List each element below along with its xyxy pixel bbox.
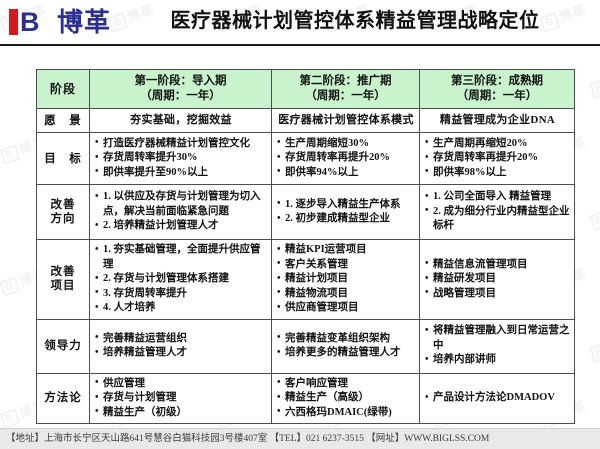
strategy-matrix: 阶段 第一阶段：导入期 （周期：一年） 第二阶段：推广期 （周期：一年） 第三阶… (36, 69, 574, 424)
vision-phase3: 精益管理成为企业DNA (420, 109, 575, 133)
list-item: 精益KPI运营项目 (277, 243, 415, 258)
list-item: 将精益管理融入到日常运营之中 (425, 324, 570, 353)
list-item: 即供率94%以上 (277, 166, 415, 181)
direction-phase3: 1. 公司全面导入 精益管理2. 成为细分行业内精益型企业标杆 (420, 185, 575, 240)
table-row: 方法论 供应管理存货与计划管理精益生产（初级） 客户响应管理精益生产（高级）六西… (37, 373, 575, 424)
goal-phase2: 生产周期缩短30%存货周转率再提升20%即供率94%以上 (272, 133, 420, 185)
list-item: 精益物流项目 (277, 287, 415, 302)
table-row: 目 标 打造医疗器械精益计划管控文化存货周转率提升30%即供率提升至90%以上 … (37, 133, 575, 185)
phase1-duration: （周期：一年） (92, 89, 269, 104)
slide-header: B 博革 医疗器械计划管控体系精益管理战略定位 (0, 0, 600, 46)
method-phase1-list: 供应管理存货与计划管理精益生产（初级） (95, 377, 267, 421)
list-item: 生产周期再缩短20% (425, 137, 570, 152)
row-label-projects: 改善 项目 (37, 240, 90, 320)
direction-phase2-list: 1. 逐步导入精益生产体系2. 初步建成精益型企业 (277, 198, 415, 227)
goal-phase2-list: 生产周期缩短30%存货周转率再提升20%即供率94%以上 (277, 137, 415, 181)
method-phase3: 产品设计方法论DMADOV (420, 373, 575, 424)
list-item: 1. 以供应及存货与计划管理为切入点，解决当前面临紧急问题 (95, 190, 267, 219)
method-phase1: 供应管理存货与计划管理精益生产（初级） (90, 373, 272, 424)
list-item: 产品设计方法论DMADOV (425, 391, 570, 406)
list-item: 即供率98%以上 (425, 166, 570, 181)
vision-phase1: 夯实基础，挖掘效益 (90, 109, 272, 133)
row-label-direction: 改善 方向 (37, 185, 90, 240)
row-label-leadership: 领导力 (37, 319, 90, 373)
column-header-stage: 阶段 (37, 70, 90, 109)
header-divider (0, 44, 600, 46)
list-item: 培养精益管理人才 (95, 346, 267, 361)
list-item: 3. 存货周转率提升 (95, 287, 267, 302)
projects-phase2-list: 精益KPI运营项目客户关系管理精益计划项目精益物流项目供应商管理项目 (277, 243, 415, 316)
table-row: 愿 景 夯实基础，挖掘效益 医疗器械计划管控体系模式 精益管理成为企业DNA (37, 109, 575, 133)
table-head: 阶段 第一阶段：导入期 （周期：一年） 第二阶段：推广期 （周期：一年） 第三阶… (37, 70, 575, 109)
list-item: 培养内部讲师 (425, 353, 570, 368)
leadership-phase1-list: 完善精益运营组织培养精益管理人才 (95, 332, 267, 361)
page-title: 医疗器械计划管控体系精益管理战略定位 (120, 8, 590, 34)
phase3-title: 第三阶段：成熟期 (422, 74, 572, 89)
list-item: 精益计划项目 (277, 272, 415, 287)
column-header-phase1: 第一阶段：导入期 （周期：一年） (90, 70, 272, 109)
list-item: 4. 人才培养 (95, 301, 267, 316)
slide-page: B博革B博革B博革B博革B博革B博革B博革B博革B博革B博革B博革B博革B博革B… (0, 0, 600, 449)
footer-bar: 【地址】上海市长宁区天山路641号慧谷白猫科技园3号楼407室 【TEL】021… (0, 428, 600, 449)
list-item: 1. 夯实基础管理，全面提升供应管理 (95, 243, 267, 272)
goal-phase3: 生产周期再缩短20%存货周转率再提升20%即供率98%以上 (420, 133, 575, 185)
projects-phase1: 1. 夯实基础管理，全面提升供应管理2. 存货与计划管理体系搭建3. 存货周转率… (90, 240, 272, 320)
projects-phase3-list: 精益信息流管理项目精益研发项目战略管理项目 (425, 258, 570, 302)
leadership-phase1: 完善精益运营组织培养精益管理人才 (90, 319, 272, 373)
list-item: 1. 逐步导入精益生产体系 (277, 198, 415, 213)
column-header-phase2: 第二阶段：推广期 （周期：一年） (272, 70, 420, 109)
list-item: 2. 初步建成精益型企业 (277, 212, 415, 227)
table-header-row: 阶段 第一阶段：导入期 （周期：一年） 第二阶段：推广期 （周期：一年） 第三阶… (37, 70, 575, 109)
leadership-phase3: 将精益管理融入到日常运营之中培养内部讲师 (420, 319, 575, 373)
leadership-phase2-list: 完善精益变革组织架构培养更多的精益管理人才 (277, 332, 415, 361)
projects-phase1-list: 1. 夯实基础管理，全面提升供应管理2. 存货与计划管理体系搭建3. 存货周转率… (95, 243, 267, 316)
list-item: 供应管理 (95, 377, 267, 392)
list-item: 完善精益运营组织 (95, 332, 267, 347)
table-row: 改善 项目 1. 夯实基础管理，全面提升供应管理2. 存货与计划管理体系搭建3.… (37, 240, 575, 320)
list-item: 2. 存货与计划管理体系搭建 (95, 272, 267, 287)
list-item: 2. 培养精益计划管理人才 (95, 219, 267, 234)
projects-phase3: 精益信息流管理项目精益研发项目战略管理项目 (420, 240, 575, 320)
phase2-duration: （周期：一年） (274, 89, 417, 104)
row-label-method: 方法论 (37, 373, 90, 424)
phase3-duration: （周期：一年） (422, 89, 572, 104)
list-item: 存货与计划管理 (95, 391, 267, 406)
goal-phase3-list: 生产周期再缩短20%存货周转率再提升20%即供率98%以上 (425, 137, 570, 181)
method-phase2-list: 客户响应管理精益生产（高级）六西格玛DMAIC(绿带) (277, 377, 415, 421)
column-header-phase3: 第三阶段：成熟期 （周期：一年） (420, 70, 575, 109)
list-item: 供应商管理项目 (277, 301, 415, 316)
brand-logo-text: 博革 (57, 7, 111, 37)
row-label-projects-line2: 项目 (38, 279, 88, 293)
table-row: 领导力 完善精益运营组织培养精益管理人才 完善精益变革组织架构培养更多的精益管理… (37, 319, 575, 373)
list-item: 即供率提升至90%以上 (95, 166, 267, 181)
method-phase2: 客户响应管理精益生产（高级）六西格玛DMAIC(绿带) (272, 373, 420, 424)
row-label-vision: 愿 景 (37, 109, 90, 133)
watermark-logo-icon: B博革 (588, 329, 600, 363)
row-label-goal: 目 标 (37, 133, 90, 185)
list-item: 存货周转率再提升20% (425, 151, 570, 166)
direction-phase1: 1. 以供应及存货与计划管理为切入点，解决当前面临紧急问题2. 培养精益计划管理… (90, 185, 272, 240)
row-label-direction-line1: 改善 (38, 198, 88, 212)
phase2-title: 第二阶段：推广期 (274, 74, 417, 89)
leadership-phase2: 完善精益变革组织架构培养更多的精益管理人才 (272, 319, 420, 373)
leadership-phase3-list: 将精益管理融入到日常运营之中培养内部讲师 (425, 324, 570, 368)
biggroup-logo-icon: B (8, 7, 52, 37)
watermark-logo-icon: B博革 (588, 65, 600, 99)
logo-b-glyph-icon: B (20, 9, 47, 35)
goal-phase1: 打造医疗器械精益计划管控文化存货周转率提升30%即供率提升至90%以上 (90, 133, 272, 185)
projects-phase2: 精益KPI运营项目客户关系管理精益计划项目精益物流项目供应商管理项目 (272, 240, 420, 320)
list-item: 六西格玛DMAIC(绿带) (277, 406, 415, 421)
direction-phase2: 1. 逐步导入精益生产体系2. 初步建成精益型企业 (272, 185, 420, 240)
method-phase3-list: 产品设计方法论DMADOV (425, 391, 570, 406)
list-item: 2. 成为细分行业内精益型企业标杆 (425, 205, 570, 234)
list-item: 1. 公司全面导入 精益管理 (425, 190, 570, 205)
table-body: 愿 景 夯实基础，挖掘效益 医疗器械计划管控体系模式 精益管理成为企业DNA 目… (37, 109, 575, 424)
brand-logo: B 博革 (8, 6, 111, 38)
goal-phase1-list: 打造医疗器械精益计划管控文化存货周转率提升30%即供率提升至90%以上 (95, 137, 267, 181)
list-item: 完善精益变革组织架构 (277, 332, 415, 347)
list-item: 精益生产（高级） (277, 391, 415, 406)
vision-phase2: 医疗器械计划管控体系模式 (272, 109, 420, 133)
list-item: 精益研发项目 (425, 272, 570, 287)
direction-phase1-list: 1. 以供应及存货与计划管理为切入点，解决当前面临紧急问题2. 培养精益计划管理… (95, 190, 267, 234)
list-item: 客户响应管理 (277, 377, 415, 392)
watermark-logo-icon: B博革 (588, 197, 600, 231)
row-label-direction-line2: 方向 (38, 212, 88, 226)
direction-phase3-list: 1. 公司全面导入 精益管理2. 成为细分行业内精益型企业标杆 (425, 190, 570, 234)
phase1-title: 第一阶段：导入期 (92, 74, 269, 89)
list-item: 培养更多的精益管理人才 (277, 346, 415, 361)
list-item: 精益信息流管理项目 (425, 258, 570, 273)
list-item: 存货周转率再提升20% (277, 151, 415, 166)
row-label-projects-line1: 改善 (38, 265, 88, 279)
list-item: 战略管理项目 (425, 287, 570, 302)
logo-red-bar-icon (9, 9, 18, 35)
list-item: 打造医疗器械精益计划管控文化 (95, 137, 267, 152)
list-item: 精益生产（初级） (95, 406, 267, 421)
footer-contact-text: 【地址】上海市长宁区天山路641号慧谷白猫科技园3号楼407室 【TEL】021… (0, 429, 489, 449)
list-item: 生产周期缩短30% (277, 137, 415, 152)
table-row: 改善 方向 1. 以供应及存货与计划管理为切入点，解决当前面临紧急问题2. 培养… (37, 185, 575, 240)
list-item: 存货周转率提升30% (95, 151, 267, 166)
strategy-table: 阶段 第一阶段：导入期 （周期：一年） 第二阶段：推广期 （周期：一年） 第三阶… (36, 69, 575, 424)
list-item: 客户关系管理 (277, 258, 415, 273)
